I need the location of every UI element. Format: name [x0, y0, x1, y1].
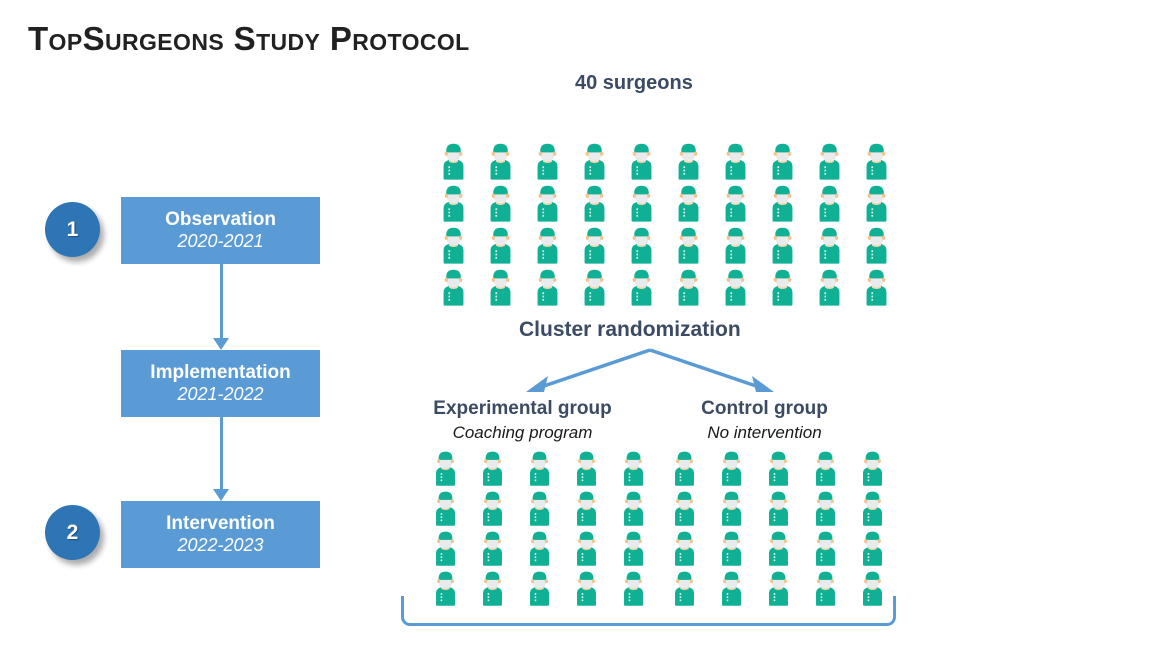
surgeon-icon — [759, 226, 806, 268]
group-subtitle: No intervention — [662, 423, 867, 443]
surgeon-icon — [806, 184, 853, 226]
surgeon-icon — [708, 530, 755, 570]
surgeon-icon — [610, 450, 657, 490]
phase-title: Implementation — [150, 363, 290, 384]
surgeon-grid-all — [430, 142, 900, 310]
group-name: Experimental group — [420, 398, 625, 420]
phase-title: Intervention — [166, 514, 275, 535]
surgeon-icon — [469, 450, 516, 490]
phase-title: Observation — [165, 210, 276, 231]
surgeon-icon — [477, 268, 524, 310]
surgeon-icon — [708, 450, 755, 490]
surgeon-icon — [422, 530, 469, 570]
surgeon-icon — [430, 184, 477, 226]
surgeon-icon — [610, 530, 657, 570]
surgeon-icon — [571, 226, 618, 268]
surgeon-icon — [477, 226, 524, 268]
surgeon-icon — [477, 142, 524, 184]
surgeon-icon — [469, 530, 516, 570]
group-name: Control group — [662, 398, 867, 420]
surgeon-icon — [665, 184, 712, 226]
surgeon-icon — [430, 268, 477, 310]
surgeon-icon — [759, 268, 806, 310]
phase-box-intervention[interactable]: Intervention 2022-2023 — [121, 501, 320, 568]
arrow-head-right — [752, 376, 774, 392]
surgeon-icon — [430, 226, 477, 268]
phase-years: 2022-2023 — [177, 536, 263, 555]
surgeon-icon — [759, 142, 806, 184]
arrow-diagonal-right-icon — [650, 350, 762, 388]
surgeon-grid-experimental — [422, 450, 657, 610]
surgeon-icon — [806, 142, 853, 184]
surgeon-icon — [853, 142, 900, 184]
phase-box-observation[interactable]: Observation 2020-2021 — [121, 197, 320, 264]
surgeon-icon — [755, 450, 802, 490]
arrow-shaft — [220, 264, 223, 338]
surgeon-icon — [516, 530, 563, 570]
surgeon-icon — [422, 490, 469, 530]
surgeon-icon — [422, 450, 469, 490]
arrow-down-icon — [210, 264, 232, 350]
total-surgeons-label: 40 surgeons — [575, 72, 693, 95]
surgeon-icon — [563, 450, 610, 490]
surgeon-icon — [849, 490, 896, 530]
arrow-down-icon — [210, 417, 232, 501]
surgeon-icon — [806, 226, 853, 268]
surgeon-icon — [618, 268, 665, 310]
surgeon-icon — [712, 142, 759, 184]
surgeon-icon — [524, 184, 571, 226]
surgeon-icon — [853, 184, 900, 226]
surgeon-icon — [571, 268, 618, 310]
surgeon-icon — [618, 226, 665, 268]
surgeon-icon — [665, 226, 712, 268]
group-header-experimental: Experimental group Coaching program — [420, 398, 625, 443]
arrow-head — [213, 489, 229, 501]
surgeon-icon — [430, 142, 477, 184]
surgeon-grid-control — [661, 450, 896, 610]
surgeon-icon — [618, 142, 665, 184]
surgeon-icon — [712, 226, 759, 268]
surgeon-icon — [853, 268, 900, 310]
surgeon-icon — [618, 184, 665, 226]
surgeon-icon — [516, 450, 563, 490]
arrow-head — [213, 338, 229, 350]
surgeon-icon — [469, 490, 516, 530]
surgeon-icon — [806, 268, 853, 310]
surgeon-icon — [665, 268, 712, 310]
surgeon-icon — [802, 450, 849, 490]
surgeon-icon — [853, 226, 900, 268]
group-header-control: Control group No intervention — [662, 398, 867, 443]
surgeon-icon — [524, 226, 571, 268]
surgeon-icon — [849, 530, 896, 570]
surgeon-icon — [755, 490, 802, 530]
arrow-diagonal-left-icon — [538, 350, 650, 388]
phase-years: 2020-2021 — [177, 232, 263, 251]
surgeon-icon — [661, 490, 708, 530]
surgeon-icon — [477, 184, 524, 226]
group-subtitle: Coaching program — [420, 423, 625, 443]
surgeon-icon — [708, 490, 755, 530]
surgeon-icon — [524, 142, 571, 184]
surgeon-icon — [571, 184, 618, 226]
surgeon-icon — [563, 530, 610, 570]
surgeon-icon — [712, 268, 759, 310]
surgeon-icon — [571, 142, 618, 184]
surgeon-icon — [802, 530, 849, 570]
surgeon-icon — [563, 490, 610, 530]
surgeon-icon — [661, 530, 708, 570]
surgeon-icon — [802, 490, 849, 530]
phase-box-implementation[interactable]: Implementation 2021-2022 — [121, 350, 320, 417]
study-protocol-slide: TopSurgeons Study Protocol Observation 2… — [0, 0, 1152, 667]
step-badge-1: 1 — [45, 202, 100, 257]
surgeon-icon — [755, 530, 802, 570]
phase-years: 2021-2022 — [177, 385, 263, 404]
surgeon-icon — [665, 142, 712, 184]
cluster-randomization-label: Cluster randomization — [519, 318, 741, 342]
surgeon-icon — [849, 450, 896, 490]
surgeon-icon — [610, 490, 657, 530]
step-badge-2: 2 — [45, 505, 100, 560]
randomization-split-arrows — [500, 348, 800, 396]
surgeon-icon — [661, 450, 708, 490]
page-title: TopSurgeons Study Protocol — [28, 20, 470, 58]
bracket-icon — [401, 596, 896, 626]
surgeon-icon — [712, 184, 759, 226]
arrow-head-left — [526, 376, 548, 392]
arrow-shaft — [220, 417, 223, 489]
surgeon-icon — [524, 268, 571, 310]
surgeon-icon — [516, 490, 563, 530]
surgeon-icon — [759, 184, 806, 226]
